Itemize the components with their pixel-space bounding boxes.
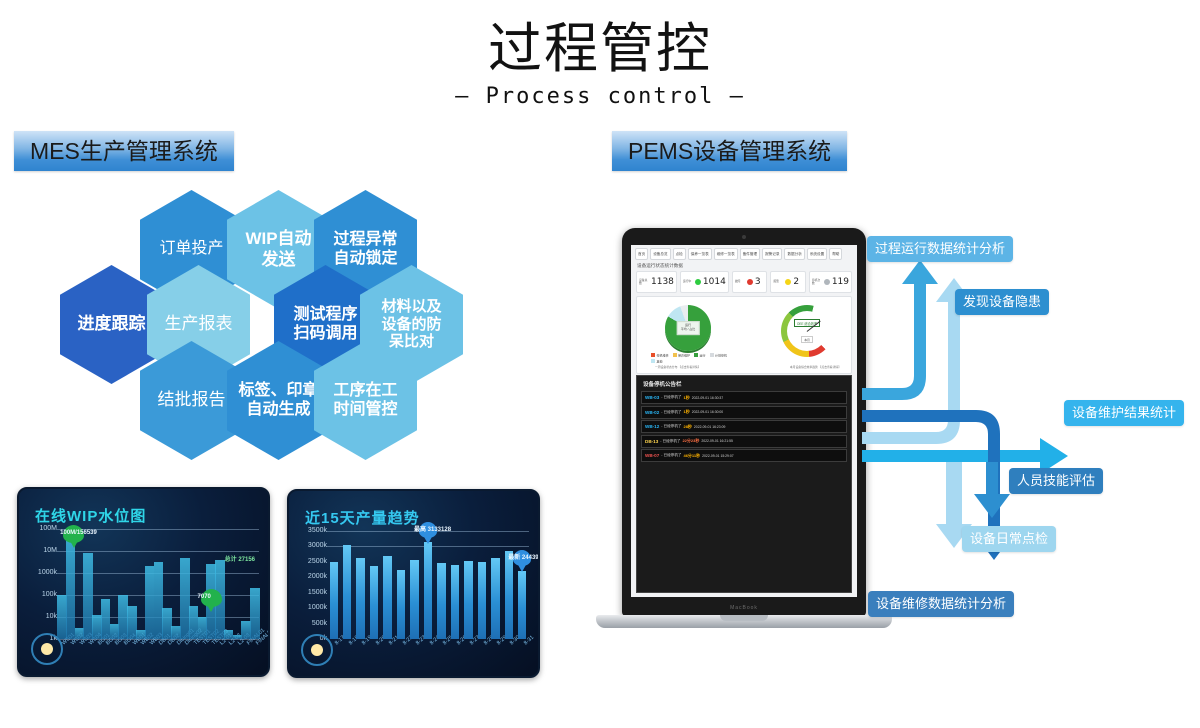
pie-legend-item: 其他 [651, 359, 663, 364]
output-y-tick: 3000k [295, 542, 327, 549]
pie-legend-item: 计划停机 [710, 353, 728, 358]
hex-cell-label: 生产报表 [165, 314, 233, 334]
output-annotation: 最高 3133128 [414, 524, 451, 533]
output-y-tick: 1500k [295, 589, 327, 596]
downtime-equipment-id: WB-12 [645, 424, 659, 429]
stat-value: 1138 [651, 277, 674, 287]
output-bar [437, 563, 445, 639]
pems-stat-card-2[interactable]: 故障3 [732, 271, 768, 293]
output-bar [410, 560, 418, 639]
wip-y-tick: 10M [25, 547, 57, 554]
output-chart-knob[interactable] [301, 634, 333, 666]
hex-cell-label: 材料以及设备的防呆比对 [381, 298, 441, 351]
downtime-row-0[interactable]: WB-03- 已经停机了1秒2022-09-01 16:30:37 [641, 391, 847, 404]
arrow-label-4[interactable]: 设备日常点检 [962, 526, 1056, 552]
laptop-base [596, 615, 892, 628]
pie-legend: 停机维修保养维护运行计划停机其他 [651, 353, 731, 363]
hex-cell-label: 过程异常自动锁定 [333, 231, 397, 269]
page-title: 过程管控 [0, 18, 1200, 80]
output-chart-title: 近15天产量趋势 [305, 507, 420, 528]
pems-stat-cards[interactable]: 设备总数1138运行中1014故障3报警2停机次数119 [636, 271, 852, 293]
stat-label: 设备总数 [639, 279, 649, 285]
wip-annotation: 7070 [198, 594, 211, 600]
pie-legend-item: 保养维护 [673, 353, 691, 358]
hex-cell-label: WIP自动发送 [245, 229, 311, 269]
pie-legend-item: 停机维修 [651, 353, 669, 358]
downtime-equipment-id: WB-03 [645, 395, 659, 400]
section-header-mes: MES生产管理系统 [14, 131, 234, 171]
pems-arrow-diagram: 过程运行数据统计分析发现设备隐患设备维护结果统计人员技能评估设备日常点检设备维修… [862, 236, 1200, 626]
downtime-duration: 28秒 [683, 424, 691, 430]
pems-nav-tab-5[interactable]: 备件管理 [740, 248, 760, 260]
pems-nav-tab-6[interactable]: 报警记录 [762, 248, 782, 260]
downtime-equipment-id: DB-13 [645, 439, 658, 444]
pems-chart-area: 运行平均 / 占比 停机维修保养维护运行计划停机其他 一周设备状态分布 【点击查… [636, 296, 852, 374]
output-bar [491, 558, 499, 639]
pems-subtitle: 设备运行状态统计数据 [637, 263, 683, 269]
pems-stat-card-4[interactable]: 停机次数119 [809, 271, 852, 293]
laptop-notch [720, 615, 768, 621]
downtime-timestamp: 2022-09-01 16:30:00 [692, 410, 723, 414]
downtime-duration: 22分23秒 [682, 438, 699, 444]
output-bar [478, 562, 486, 639]
wip-y-tick: 100k [25, 591, 57, 598]
pems-nav-tab-4[interactable]: 维修一览表 [714, 248, 738, 260]
wip-gridline [57, 551, 259, 552]
arrow-label-3[interactable]: 人员技能评估 [1009, 468, 1103, 494]
hex-cell-label: 结批报告 [158, 390, 226, 410]
downtime-duration: 1秒 [683, 395, 689, 401]
hex-cell-label: 工序在工时间管控 [333, 382, 397, 420]
output-bar [343, 545, 351, 639]
downtime-text: - 已经停机了 [661, 410, 681, 415]
output-bar [464, 561, 472, 639]
output-y-tick: 2500k [295, 558, 327, 565]
stat-label: 报警 [773, 280, 783, 283]
arrow-label-0[interactable]: 过程运行数据统计分析 [867, 236, 1013, 262]
downtime-text: - 已经停机了 [661, 453, 681, 458]
pems-nav-tab-3[interactable]: 保养一览表 [688, 248, 712, 260]
output-bar [356, 558, 364, 639]
downtime-row-4[interactable]: WB-07- 已经停机了46分11秒2022-09-01 15:29:07 [641, 449, 847, 462]
pie-legend-item: 运行 [694, 353, 706, 358]
wip-level-chart-panel[interactable]: 在线WIP水位图 100M10M1000k100k10k1kWS01WS02WS… [17, 487, 270, 677]
stat-label: 停机次数 [812, 279, 822, 285]
hex-cell-label: 订单投产 [159, 240, 223, 259]
wip-y-tick: 1000k [25, 569, 57, 576]
output-bar [370, 566, 378, 639]
stat-status-dot [747, 279, 753, 285]
downtime-board-title: 设备停机公告栏 [643, 380, 682, 388]
wip-chart-knob[interactable] [31, 633, 63, 665]
arrow-label-2[interactable]: 设备维护结果统计 [1064, 400, 1184, 426]
wip-area-segment [250, 588, 260, 639]
stat-label: 运行中 [683, 280, 693, 283]
downtime-duration: 1秒 [683, 409, 689, 415]
pems-nav-bar[interactable]: 首页设备总览点检保养一览表维修一览表备件管理报警记录数据分析系统设置帮助 [635, 248, 853, 260]
output-bar [383, 556, 391, 639]
mes-hexagon-grid: 订单投产WIP自动发送过程异常自动锁定进度跟踪生产报表测试程序扫码调用材料以及设… [60, 190, 500, 470]
output-bar [518, 571, 526, 640]
pems-nav-tab-1[interactable]: 设备总览 [650, 248, 670, 260]
downtime-board-rows[interactable]: WB-03- 已经停机了1秒2022-09-01 16:30:37WB-02- … [641, 391, 847, 464]
downtime-text: - 已经停机了 [660, 439, 680, 444]
stat-label: 故障 [735, 280, 745, 283]
downtime-timestamp: 2022-09-01 15:29:07 [702, 454, 733, 458]
wip-y-tick: 10k [25, 613, 57, 620]
hex-cell-label: 进度跟踪 [78, 314, 146, 334]
wip-annotation: 100M/156539 [60, 530, 97, 536]
pems-stat-card-3[interactable]: 报警2 [770, 271, 806, 293]
laptop-brand: MacBook [622, 605, 866, 611]
downtime-row-1[interactable]: WB-02- 已经停机了1秒2022-09-01 16:30:00 [641, 406, 847, 419]
wip-chart-title: 在线WIP水位图 [35, 505, 146, 526]
output-y-tick: 1000k [295, 604, 327, 611]
hex-cell-label: 测试程序扫码调用 [293, 306, 357, 344]
wip-area-segment [66, 538, 76, 639]
webcam-icon [742, 235, 746, 239]
downtime-duration: 46分11秒 [683, 453, 700, 459]
arrow-label-1[interactable]: 发现设备隐患 [955, 289, 1049, 315]
stat-value: 119 [832, 277, 849, 287]
page-subtitle: — Process control — [0, 84, 1200, 110]
pie-caption: 一周设备状态分布 【点击查看详情】 [655, 365, 701, 369]
output-y-tick: 500k [295, 620, 327, 627]
downtime-timestamp: 2022-09-01 16:30:37 [692, 396, 723, 400]
status-pie-chart[interactable]: 运行平均 / 占比 [665, 305, 711, 351]
wip-y-tick: 100M [25, 525, 57, 532]
output-annotation: 最新 2443947 [508, 552, 540, 561]
oee-gauge-chart[interactable]: OEE 综合效率 本月 [781, 305, 833, 357]
arrow-label-5[interactable]: 设备维修数据统计分析 [868, 591, 1014, 617]
section-header-pems: PEMS设备管理系统 [612, 131, 847, 171]
gauge-sub-label: 本月 [801, 336, 813, 343]
output-trend-chart-panel[interactable]: 近15天产量趋势 3500k3000k2500k2000k1500k1000k5… [287, 489, 540, 678]
stat-status-dot [785, 279, 791, 285]
slide-root: 过程管控 — Process control — MES生产管理系统 PEMS设… [0, 0, 1200, 728]
downtime-row-3[interactable]: DB-13- 已经停机了22分23秒2022-09-01 16:21:55 [641, 435, 847, 448]
pems-stat-card-0[interactable]: 设备总数1138 [636, 271, 677, 293]
downtime-equipment-id: WB-07 [645, 453, 659, 458]
wip-annotation: 总计 27156 [225, 554, 255, 563]
stat-status-dot [695, 279, 701, 285]
stat-value: 3 [755, 277, 761, 287]
output-bar [330, 562, 338, 639]
output-y-tick: 3500k [295, 527, 327, 534]
hex-cell-label: 标签、印章自动生成 [238, 382, 318, 420]
gauge-caption: 本月设备综合效率趋势 【点击查看详情】 [790, 365, 841, 369]
downtime-text: - 已经停机了 [661, 424, 681, 429]
pems-stat-card-1[interactable]: 运行中1014 [680, 271, 729, 293]
pems-nav-tab-7[interactable]: 数据分析 [784, 248, 804, 260]
output-bar [424, 542, 432, 639]
downtime-board: 设备停机公告栏 WB-03- 已经停机了1秒2022-09-01 16:30:3… [636, 375, 852, 593]
downtime-equipment-id: WB-02 [645, 410, 659, 415]
laptop-mockup: 首页设备总览点检保养一览表维修一览表备件管理报警记录数据分析系统设置帮助 设备运… [596, 228, 892, 640]
pems-nav-tab-0[interactable]: 首页 [635, 248, 648, 260]
pems-nav-tab-2[interactable]: 点检 [673, 248, 686, 260]
laptop-lid: 首页设备总览点检保养一览表维修一览表备件管理报警记录数据分析系统设置帮助 设备运… [622, 228, 866, 616]
output-y-tick: 2000k [295, 573, 327, 580]
pems-nav-tab-8[interactable]: 系统设置 [807, 248, 827, 260]
downtime-timestamp: 2022-09-01 16:21:55 [701, 439, 732, 443]
downtime-text: - 已经停机了 [661, 395, 681, 400]
stat-status-dot [824, 279, 830, 285]
downtime-row-2[interactable]: WB-12- 已经停机了28秒2022-09-01 16:23:09 [641, 420, 847, 433]
pems-nav-tab-9[interactable]: 帮助 [829, 248, 842, 260]
output-bar [505, 551, 513, 639]
output-bar [397, 570, 405, 639]
output-bar [451, 565, 459, 639]
laptop-screen: 首页设备总览点检保养一览表维修一览表备件管理报警记录数据分析系统设置帮助 设备运… [631, 245, 857, 597]
pie-center-label: 运行平均 / 占比 [677, 321, 700, 335]
stat-value: 1014 [703, 277, 726, 287]
downtime-timestamp: 2022-09-01 16:23:09 [694, 425, 725, 429]
stat-value: 2 [793, 277, 799, 287]
